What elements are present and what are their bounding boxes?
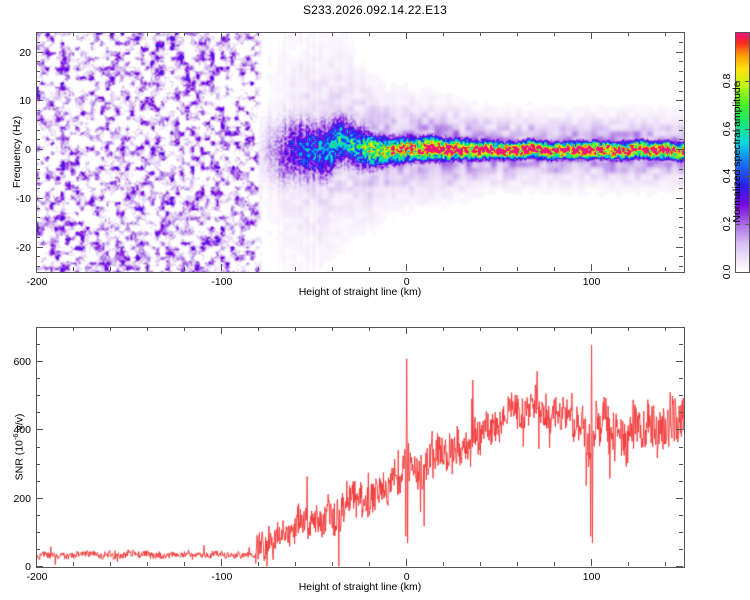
- y-tick-label: -10: [4, 193, 31, 205]
- spectrogram-x-axis-title: Height of straight line (km): [299, 286, 422, 298]
- x-tick-label: 100: [583, 276, 601, 288]
- x-tick-label: 100: [583, 571, 601, 583]
- y-tick-label: 0: [4, 561, 31, 573]
- snr-trace: [37, 328, 684, 567]
- snr-x-axis-title: Height of straight line (km): [299, 581, 422, 593]
- snr-y-axis-title: SNR (10-6 v/v): [11, 414, 26, 481]
- spectrogram-plot-area: [36, 32, 685, 273]
- colorbar-tick-label: 0.0: [721, 265, 733, 280]
- spectrogram-image: [37, 33, 684, 272]
- colorbar-title: Normalized spectral amplitude: [731, 81, 743, 222]
- x-tick-label: -100: [211, 276, 232, 288]
- figure-root: S233.2026.092.14.22.E13 -200-1000100-20-…: [0, 0, 750, 600]
- x-tick-label: -200: [26, 571, 47, 583]
- spectrogram-y-axis-title: Frequency (Hz): [11, 116, 23, 188]
- y-tick-label: 20: [4, 47, 31, 59]
- snr-plot-area: [36, 327, 685, 568]
- y-tick-label: 200: [4, 493, 31, 505]
- y-tick-label: 10: [4, 95, 31, 107]
- y-tick-label: 600: [4, 356, 31, 368]
- x-tick-label: -200: [26, 276, 47, 288]
- x-tick-label: -100: [211, 571, 232, 583]
- figure-title: S233.2026.092.14.22.E13: [0, 3, 750, 17]
- y-tick-label: -20: [4, 242, 31, 254]
